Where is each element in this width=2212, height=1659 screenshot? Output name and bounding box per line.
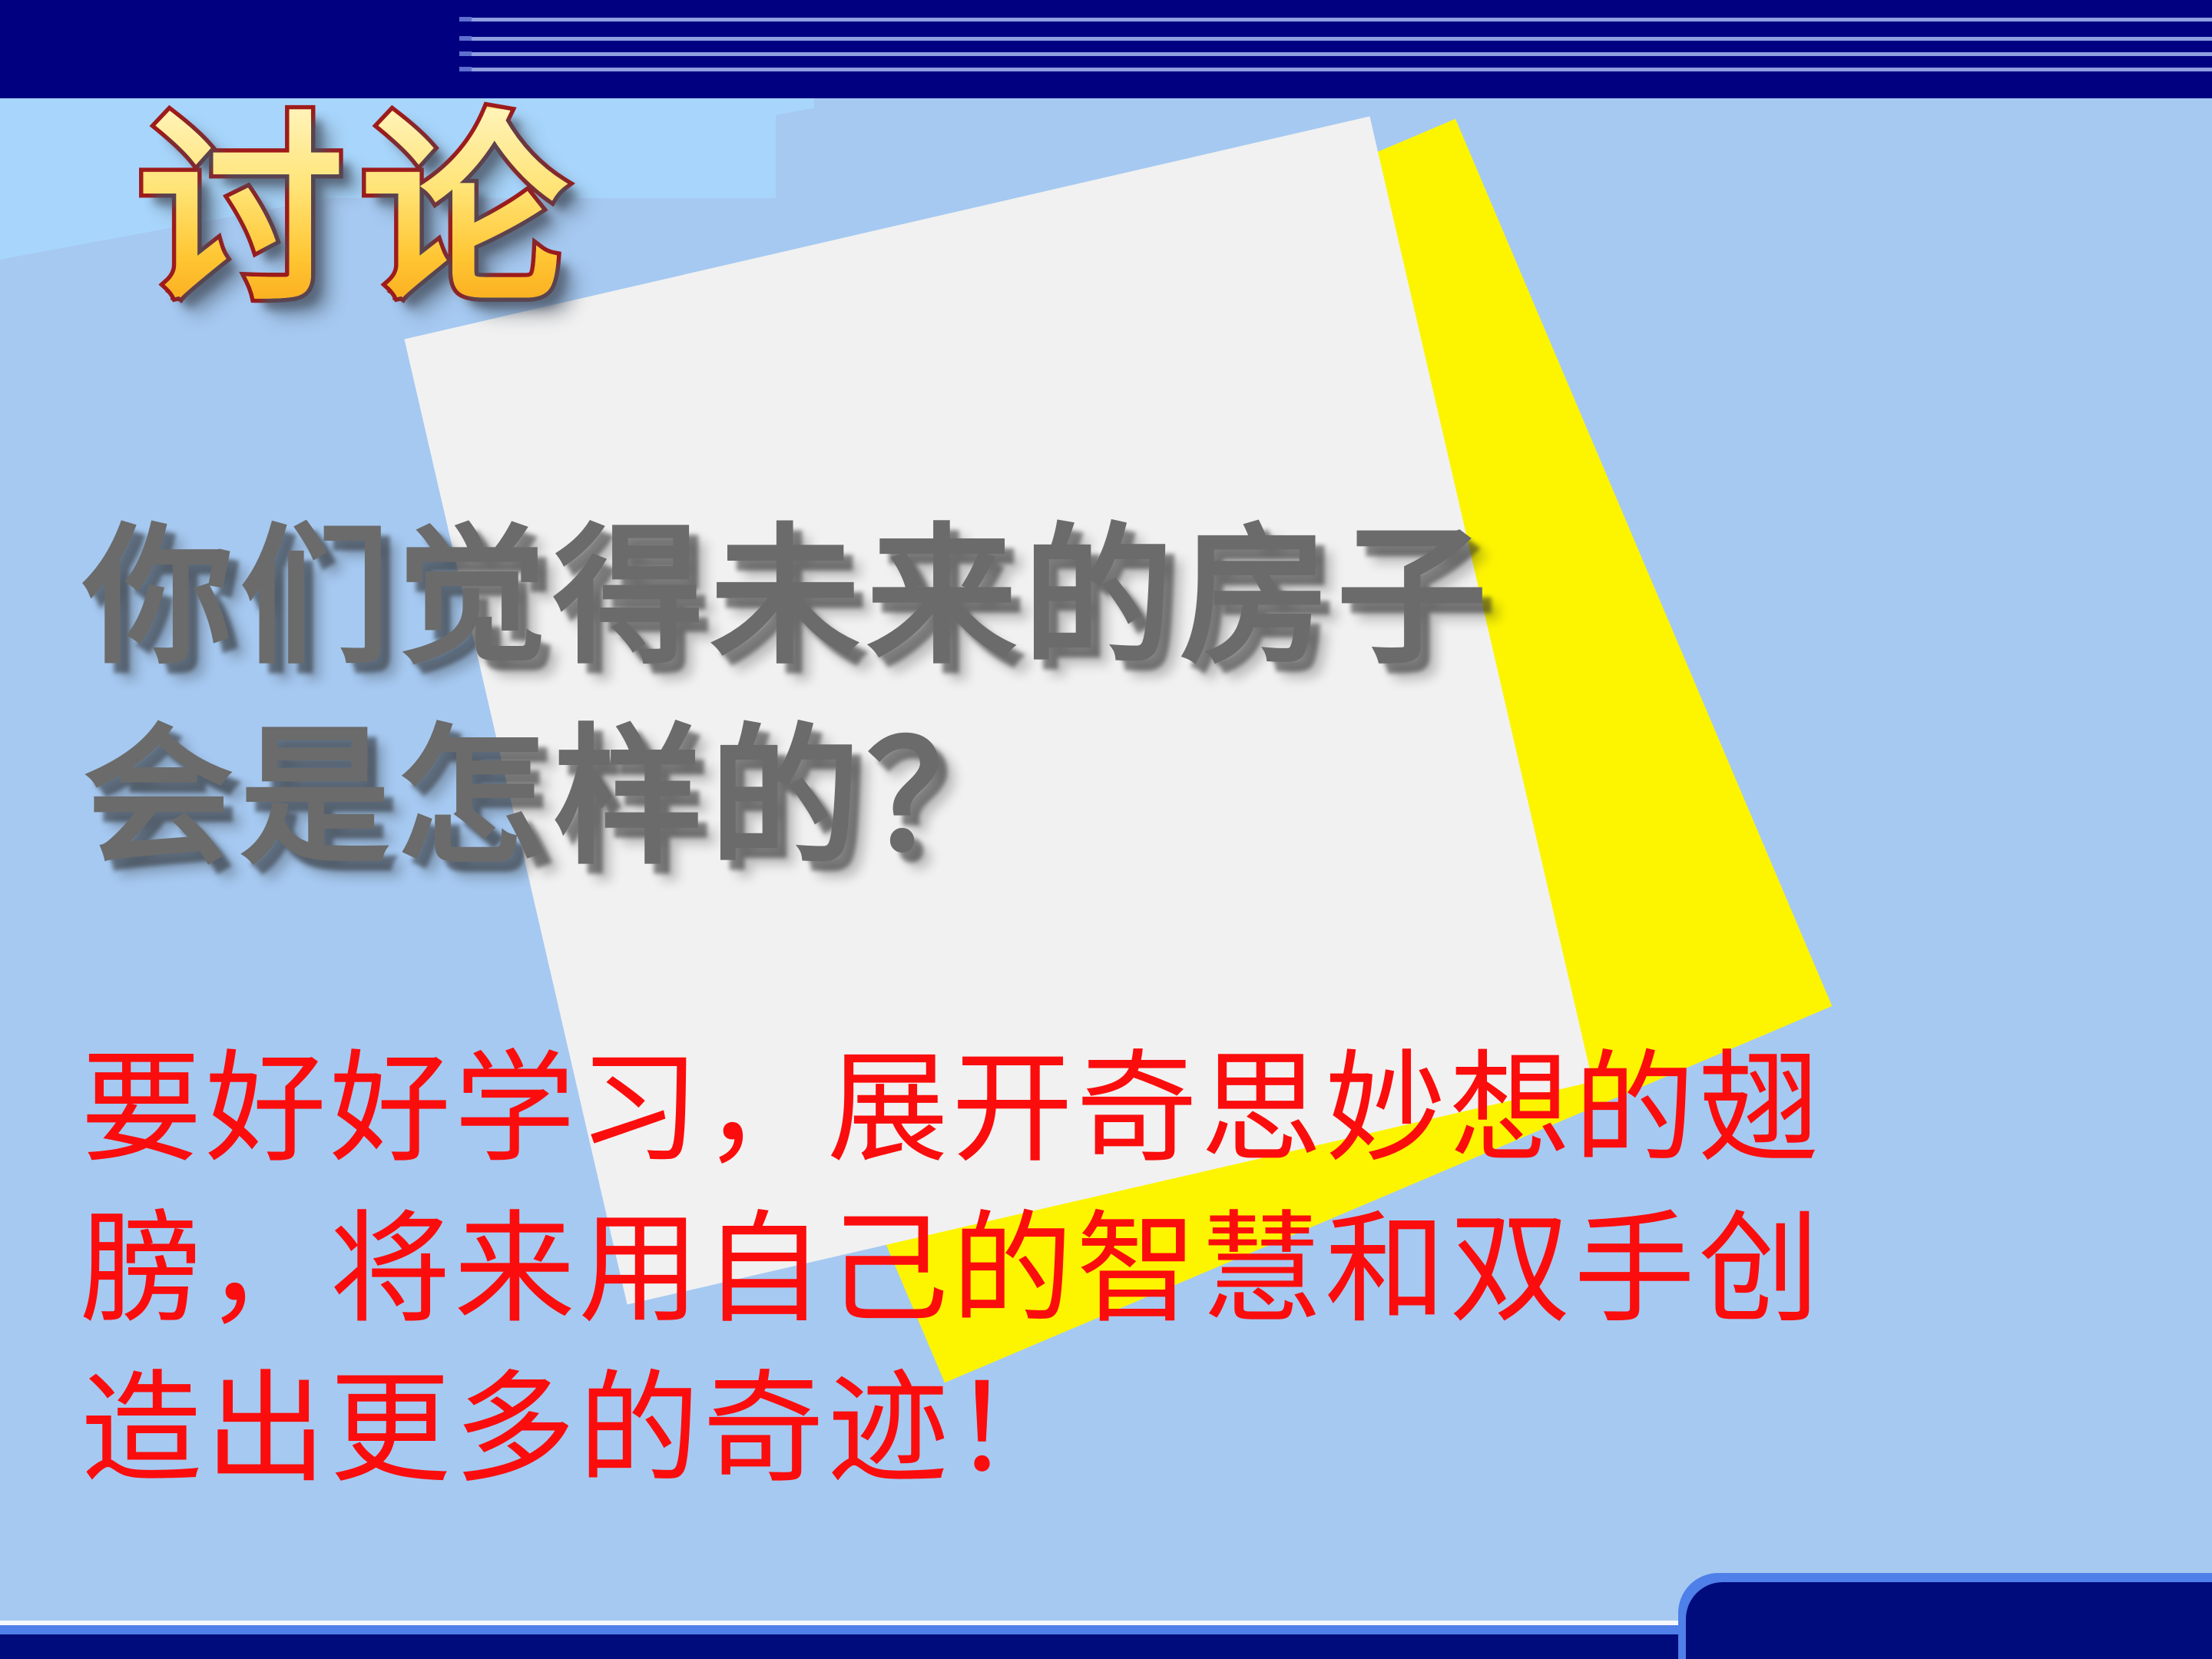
top-banner	[0, 0, 2212, 98]
question-text-block: 你们觉得未来的房子 会是怎样的？	[83, 498, 1926, 898]
footer-bar	[0, 1536, 2212, 1659]
banner-stripe-tick-3	[459, 51, 472, 56]
banner-stripe-tick-1	[459, 17, 472, 22]
body-text-block: 要好好学习，展开奇思妙想的翅 膀，将来用自己的智慧和双手创 造出更多的奇迹！	[81, 1029, 2047, 1510]
banner-stripe-4	[459, 68, 2212, 71]
banner-stripe-1	[459, 18, 2212, 22]
question-line-1: 你们觉得未来的房子	[83, 498, 1926, 698]
body-line-1: 要好好学习，展开奇思妙想的翅	[81, 1029, 2047, 1190]
body-line-2: 膀，将来用自己的智慧和双手创	[81, 1190, 2047, 1350]
banner-stripe-tick-4	[459, 67, 472, 71]
slide-title-outline: 讨论	[138, 109, 584, 315]
presentation-slide: 讨论 讨论 你们觉得未来的房子 会是怎样的？ 要好好学习，展开奇思妙想的翅 膀，…	[0, 0, 2212, 1659]
body-line-3: 造出更多的奇迹！	[81, 1349, 2047, 1510]
banner-stripe-3	[459, 52, 2212, 56]
question-line-2: 会是怎样的？	[83, 698, 1926, 899]
footer-navy-tab-right	[1686, 1582, 2212, 1659]
top-banner-stripes	[459, 0, 2212, 98]
banner-stripe-tick-2	[459, 36, 472, 41]
banner-stripe-2	[459, 37, 2212, 41]
footer-navy-bar-left	[0, 1634, 1713, 1659]
